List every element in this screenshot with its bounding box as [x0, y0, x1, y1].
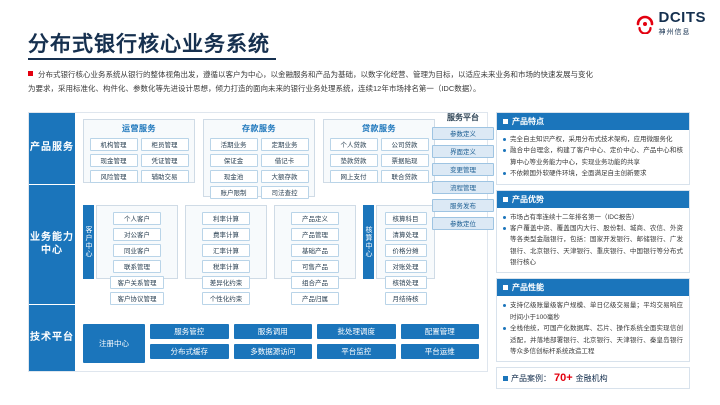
cell-product-define[interactable]: 产品定义 — [291, 212, 339, 225]
architecture-diagram: 产品服务 业务能力中心 技术平台 运营服务 机构管理 柜员管理 现金管理 凭证管… — [28, 112, 488, 372]
service-platform-column: 服务平台 参数定义 界面定义 变更管理 流程管理 服务发布 参数定位 — [432, 112, 494, 235]
cell-price-allocation[interactable]: 价格分摊 — [385, 244, 427, 257]
square-bullet-icon — [503, 119, 508, 124]
advantage-item-2: 客户覆盖中资、覆盖国内大行、股份制、城商、农信、外资等各类型金融银行，包括：国家… — [503, 223, 683, 269]
cell-corporate-loan[interactable]: 公司贷款 — [381, 138, 429, 151]
group-title-operation: 运营服务 — [84, 120, 194, 134]
cell-personal-customer[interactable]: 个人客户 — [113, 212, 161, 225]
case-suffix: 金融机构 — [576, 373, 608, 384]
cell-personal-loan[interactable]: 个人贷款 — [330, 138, 378, 151]
cell-contact-mgmt[interactable]: 联系管理 — [113, 260, 161, 273]
cell-risk-mgmt[interactable]: 风险管理 — [90, 170, 138, 183]
cell-customer-agreement-mgmt[interactable]: 客户协议管理 — [110, 292, 164, 305]
cell-combo-product[interactable]: 组合产品 — [291, 276, 339, 289]
slide-page: DCITS 神州信息 分布式银行核心业务系统 分布式银行核心业务系统从银行的整体… — [0, 0, 720, 405]
square-bullet-icon — [503, 376, 508, 381]
plat-distributed-cache[interactable]: 分布式缓存 — [150, 344, 229, 359]
group-deposit-service: 存款服务 活期业务 定期业务 保证金 借记卡 现金池 大额存款 账户限制 司法查… — [203, 119, 315, 197]
panel-head-advantages: 产品优势 — [497, 191, 689, 208]
square-bullet-icon — [503, 285, 508, 290]
service-platform-title: 服务平台 — [432, 112, 494, 123]
group-product-mgmt: 产品定义 产品管理 基础产品 可售产品 组合产品 产品归属 — [274, 205, 356, 279]
square-bullet-icon — [503, 197, 508, 202]
title-underline — [28, 58, 276, 60]
case-label: 产品案例： — [511, 373, 551, 384]
cell-account-limit[interactable]: 账户限制 — [210, 186, 258, 199]
intro-text: 分布式银行核心业务系统从银行的整体视角出发，遵循以客户为中心，以金融服务和产品为… — [28, 68, 690, 97]
cell-bill-discount[interactable]: 票据贴现 — [381, 154, 429, 167]
cell-fx-calc[interactable]: 汇率计算 — [202, 244, 250, 257]
group-accounting-cells: 核算科目 清算处理 价格分摊 对账处理 核销处理 月结待核 — [376, 205, 435, 279]
dcits-logo-icon — [635, 14, 655, 34]
cell-aux-trade[interactable]: 辅助交易 — [141, 170, 189, 183]
cell-account-subject[interactable]: 核算科目 — [385, 212, 427, 225]
cell-debit-card[interactable]: 借记卡 — [261, 154, 309, 167]
cell-month-end[interactable]: 月结待核 — [385, 292, 427, 305]
diagram-content: 运营服务 机构管理 柜员管理 现金管理 凭证管理 风险管理 辅助交易 存款服务 … — [75, 113, 487, 371]
cell-teller-mgmt[interactable]: 柜员管理 — [141, 138, 189, 151]
cell-large-deposit[interactable]: 大额存款 — [261, 170, 309, 183]
group-pricing-cells: 利率计算 费率计算 汇率计算 税率计算 差异化约束 个性化约束 — [185, 205, 267, 279]
intro-para-2: 为要求，采用标准化、构件化、参数化等先进设计思想，倾力打造的面向未来的银行业务处… — [28, 82, 690, 96]
cell-fixed-biz[interactable]: 定期业务 — [261, 138, 309, 151]
intro-bullet-icon — [28, 71, 33, 76]
cell-customer-relation-mgmt[interactable]: 客户关系管理 — [110, 276, 164, 289]
panel-product-performance: 产品性能 支持亿级账量级客户规模、单日亿级交易量；平均交易响应时间小于100毫秒… — [496, 278, 690, 362]
svc-param-define[interactable]: 参数定义 — [432, 127, 494, 140]
cell-fee-calc[interactable]: 费率计算 — [202, 228, 250, 241]
layer-label-capability-center: 业务能力中心 — [29, 185, 75, 305]
advantage-item-1: 市场占有率连续十二年排名第一（IDC报告） — [503, 212, 683, 223]
group-customer-cells: 个人客户 对公客户 同业客户 联系管理 客户关系管理 客户协议管理 — [96, 205, 178, 279]
svc-ui-define[interactable]: 界面定义 — [432, 145, 494, 158]
plat-ops[interactable]: 平台运维 — [401, 344, 480, 359]
cell-judicial-control[interactable]: 司法查控 — [261, 186, 309, 199]
logo-text-cn: 神州信息 — [659, 27, 691, 37]
tech-platform-bar: 注册中心 服务管控 服务调用 批处理调度 配置管理 分布式缓存 多数据源访问 平… — [75, 324, 487, 371]
cell-diff-constraint[interactable]: 差异化约束 — [202, 276, 250, 289]
cell-org-mgmt[interactable]: 机构管理 — [90, 138, 138, 151]
feature-item-2: 融合中台理念，构建了客户中心、定价中心、产品中心和核算中心等业务能力中心，实现业… — [503, 145, 683, 168]
cell-sellable-product[interactable]: 可售产品 — [291, 260, 339, 273]
cell-product-manage[interactable]: 产品管理 — [291, 228, 339, 241]
case-value: 70+ — [554, 372, 573, 384]
plat-batch-schedule[interactable]: 批处理调度 — [317, 324, 396, 339]
group-title-deposit: 存款服务 — [204, 120, 314, 134]
panel-head-performance: 产品性能 — [497, 279, 689, 296]
performance-item-2: 全栈他统，可国产化数据库、芯片、操作系统全面实现信创适配，并落地部署银行、北京银… — [503, 323, 683, 357]
cell-advance-loan[interactable]: 垫款贷款 — [330, 154, 378, 167]
plat-multi-datasource[interactable]: 多数据源访问 — [234, 344, 313, 359]
plat-service-control[interactable]: 服务管控 — [150, 324, 229, 339]
page-title: 分布式银行核心业务系统 — [28, 28, 270, 58]
layer-label-product-service: 产品服务 — [29, 113, 75, 185]
svc-change-mgmt[interactable]: 变更管理 — [432, 163, 494, 176]
cell-rate-calc[interactable]: 利率计算 — [202, 212, 250, 225]
intro-para-1: 分布式银行核心业务系统从银行的整体视角出发，遵循以客户为中心，以金融服务和产品为… — [38, 70, 593, 79]
panel-head-features: 产品特点 — [497, 113, 689, 130]
feature-item-1: 完全自主知识产权，采用分布式技术架构，应用微服务化 — [503, 134, 683, 145]
panel-head-performance-label: 产品性能 — [512, 282, 544, 293]
cell-tax-calc[interactable]: 税率计算 — [202, 260, 250, 273]
panel-body-features: 完全自主知识产权，采用分布式技术架构，应用微服务化 融合中台理念，构建了客户中心… — [497, 130, 689, 184]
right-info-panel: 产品特点 完全自主知识产权，采用分布式技术架构，应用微服务化 融合中台理念，构建… — [496, 112, 690, 372]
plat-registry[interactable]: 注册中心 — [83, 324, 145, 363]
cell-product-attribution[interactable]: 产品归属 — [291, 292, 339, 305]
performance-item-1: 支持亿级账量级客户规模、单日亿级交易量；平均交易响应时间小于100毫秒 — [503, 300, 683, 323]
brand-logo: DCITS 神州信息 — [635, 10, 707, 37]
group-operation-service: 运营服务 机构管理 柜员管理 现金管理 凭证管理 风险管理 辅助交易 — [83, 119, 195, 183]
panel-head-advantages-label: 产品优势 — [512, 194, 544, 205]
panel-body-advantages: 市场占有率连续十二年排名第一（IDC报告） 客户覆盖中资、覆盖国内大行、股份制、… — [497, 208, 689, 273]
plat-config-mgmt[interactable]: 配置管理 — [401, 324, 480, 339]
layer-label-tech-platform: 技术平台 — [29, 305, 75, 371]
plat-service-invoke[interactable]: 服务调用 — [234, 324, 313, 339]
cell-cash-pool[interactable]: 现金池 — [210, 170, 258, 183]
group-title-loan: 贷款服务 — [324, 120, 434, 134]
panel-product-advantages: 产品优势 市场占有率连续十二年排名第一（IDC报告） 客户覆盖中资、覆盖国内大行… — [496, 190, 690, 274]
plat-monitor[interactable]: 平台监控 — [317, 344, 396, 359]
cell-personal-constraint[interactable]: 个性化约束 — [202, 292, 250, 305]
panel-head-features-label: 产品特点 — [512, 116, 544, 127]
tab-accounting-center[interactable]: 核算中心 — [363, 205, 374, 279]
logo-text-en: DCITS — [659, 10, 707, 25]
cell-online-pay[interactable]: 网上支付 — [330, 170, 378, 183]
feature-item-3: 不依赖国外软硬件环境，全面满足自主创新要求 — [503, 168, 683, 179]
panel-product-features: 产品特点 完全自主知识产权，采用分布式技术架构，应用微服务化 融合中台理念，构建… — [496, 112, 690, 185]
panel-body-performance: 支持亿级账量级客户规模、单日亿级交易量；平均交易响应时间小于100毫秒 全栈他统… — [497, 296, 689, 361]
svc-param-locate[interactable]: 参数定位 — [432, 217, 494, 230]
cell-peer-customer[interactable]: 同业客户 — [113, 244, 161, 257]
cell-voucher-mgmt[interactable]: 凭证管理 — [141, 154, 189, 167]
cell-margin[interactable]: 保证金 — [210, 154, 258, 167]
cell-current-biz[interactable]: 活期业务 — [210, 138, 258, 151]
tab-customer-center[interactable]: 客户中心 — [83, 205, 94, 279]
product-case-badge: 产品案例： 70+ 金融机构 — [496, 367, 690, 389]
cell-clearing[interactable]: 清算处理 — [385, 228, 427, 241]
svc-process-mgmt[interactable]: 流程管理 — [432, 181, 494, 194]
svc-service-publish[interactable]: 服务发布 — [432, 199, 494, 212]
diagram-left-column: 产品服务 业务能力中心 技术平台 — [29, 113, 75, 371]
cell-joint-loan[interactable]: 联合贷款 — [381, 170, 429, 183]
cell-base-product[interactable]: 基础产品 — [291, 244, 339, 257]
cell-reconciliation[interactable]: 对账处理 — [385, 260, 427, 273]
cell-corporate-customer[interactable]: 对公客户 — [113, 228, 161, 241]
cell-write-off[interactable]: 核销处理 — [385, 276, 427, 289]
group-loan-service: 贷款服务 个人贷款 公司贷款 垫款贷款 票据贴现 网上支付 联合贷款 — [323, 119, 435, 183]
cell-cash-mgmt[interactable]: 现金管理 — [90, 154, 138, 167]
